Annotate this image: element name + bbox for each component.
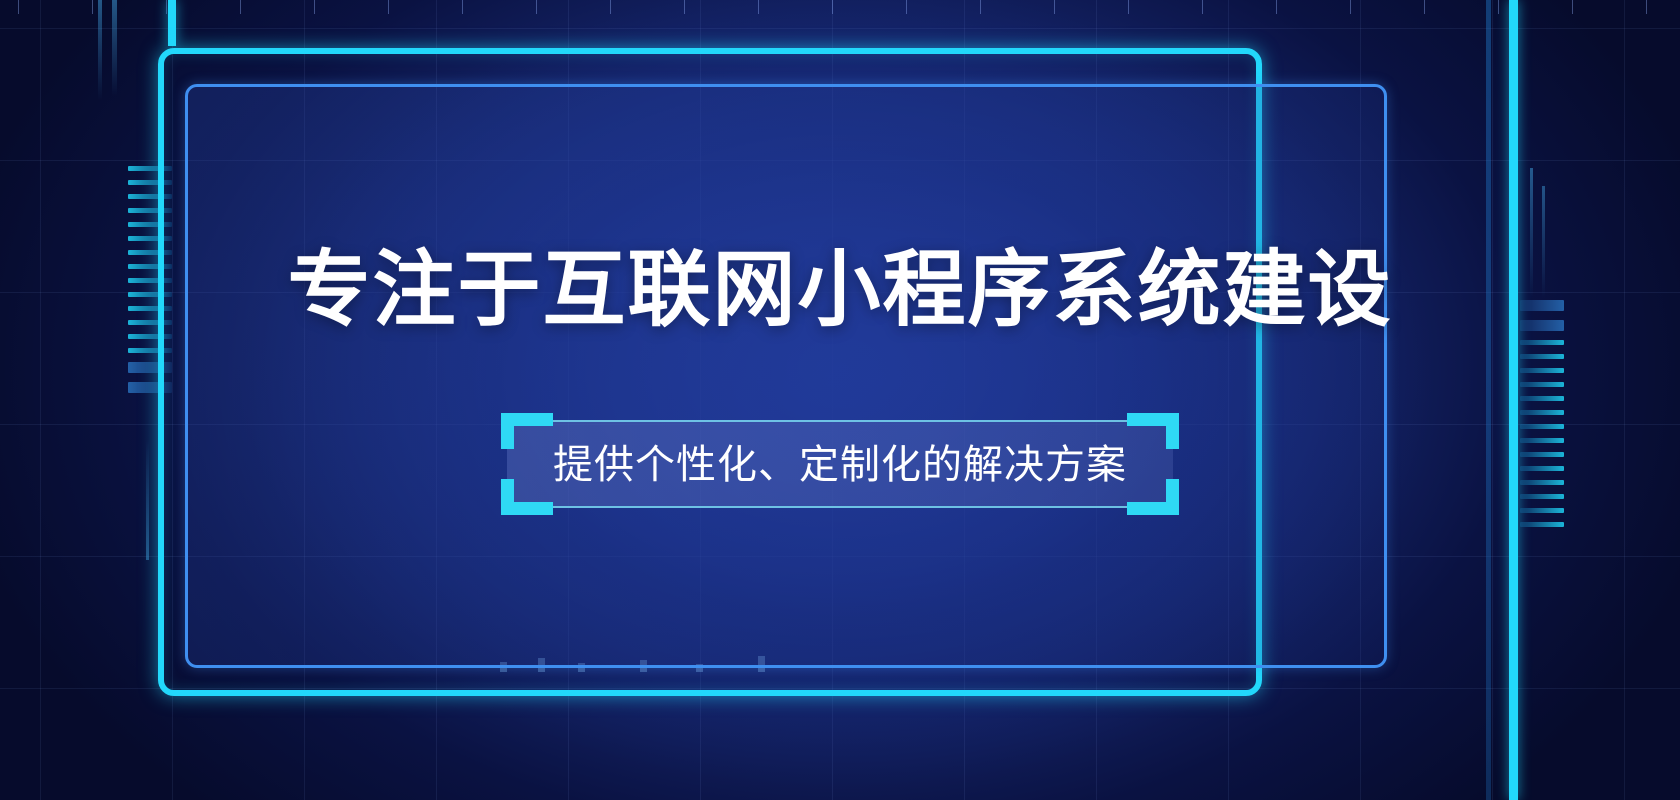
corner-bracket-bottom-right — [1127, 479, 1179, 515]
subtitle-text: 提供个性化、定制化的解决方案 — [553, 438, 1127, 492]
subtitle-top-edge — [507, 420, 1173, 422]
subtitle-bottom-edge — [507, 506, 1173, 508]
accent-bar-left-2 — [112, 0, 117, 96]
subtitle-frame: 提供个性化、定制化的解决方案 — [507, 420, 1173, 508]
corner-bracket-top-right — [1127, 413, 1179, 449]
left-rail-neon — [168, 0, 176, 46]
corner-bracket-bottom-left — [501, 479, 553, 515]
banner-stage: 专注于互联网小程序系统建设 提供个性化、定制化的解决方案 — [0, 0, 1680, 800]
corner-bracket-top-left — [501, 413, 553, 449]
banner-content: 专注于互联网小程序系统建设 提供个性化、定制化的解决方案 — [0, 84, 1680, 668]
headline-text: 专注于互联网小程序系统建设 — [288, 244, 1393, 335]
top-tick-ruler — [0, 0, 1680, 14]
